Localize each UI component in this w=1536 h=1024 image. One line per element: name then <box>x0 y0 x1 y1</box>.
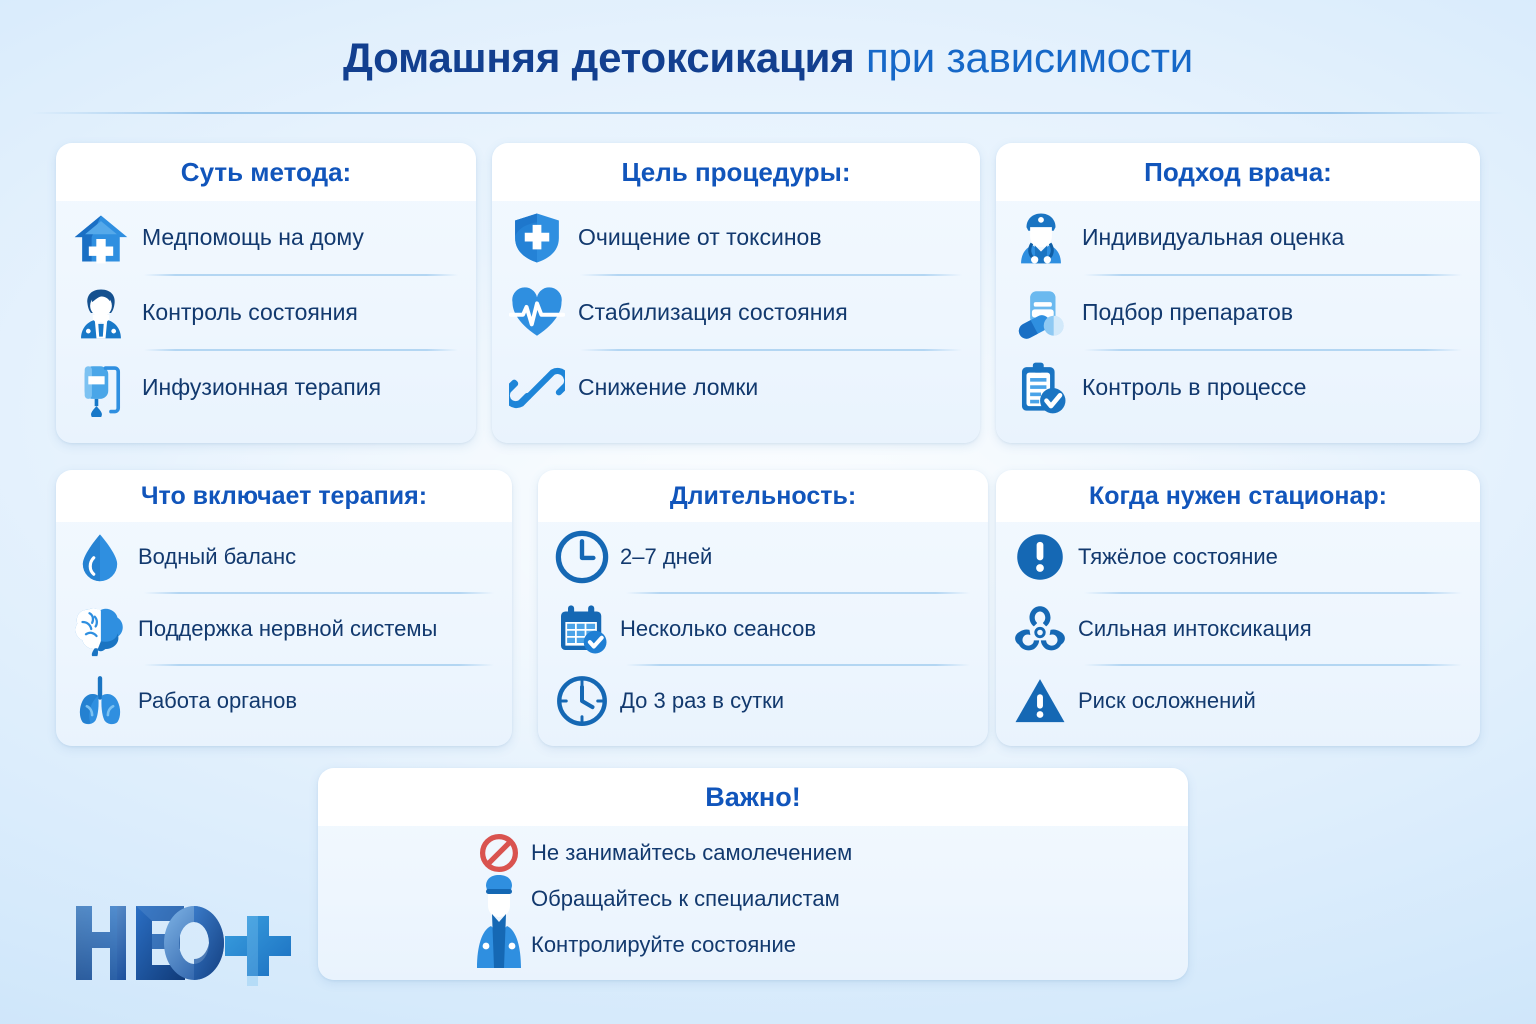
calendar-check-icon <box>552 599 612 659</box>
list-item-label: Риск осложнений <box>1078 688 1256 714</box>
doctor-person-icon <box>70 282 132 344</box>
list-item: Очищение от токсинов <box>506 201 966 274</box>
list-item-label: Контроль в процессе <box>1082 374 1306 401</box>
list-item-label: До 3 раз в сутки <box>620 688 784 714</box>
list-item-label: Водный баланс <box>138 544 296 570</box>
list-item: Водный баланс <box>70 522 498 592</box>
card-heading: Суть метода: <box>56 143 476 201</box>
list-item-label: Несколько сеансов <box>620 616 816 642</box>
card-heading: Длительность: <box>538 470 988 522</box>
list-item-label: 2–7 дней <box>620 544 712 570</box>
water-drop-icon <box>70 527 130 587</box>
heart-pulse-icon <box>506 282 568 344</box>
list-item-label: Не занимайтесь самолечением <box>531 840 852 866</box>
important-list: Не занимайтесь самолечением Обращайтесь … <box>473 830 1033 968</box>
clock-icon <box>552 527 612 587</box>
list-item-label: Подбор препаратов <box>1082 299 1293 326</box>
card-therapy-includes: Что включает терапия: Водный баланс <box>56 470 512 746</box>
list-item: До 3 раз в сутки <box>552 666 974 736</box>
list-item-label: Обращайтесь к специалистам <box>531 886 840 912</box>
neo-plus-logo <box>72 900 292 986</box>
list-item-label: Сильная интоксикация <box>1078 616 1312 642</box>
list-item-label: Контроль состояния <box>142 299 358 326</box>
list-item: Контроль в процессе <box>1010 351 1466 424</box>
card-heading: Что включает терапия: <box>56 470 512 522</box>
list-item: Снижение ломки <box>506 351 966 424</box>
lungs-icon <box>70 671 130 731</box>
biohazard-icon <box>1010 599 1070 659</box>
clipboard-check-icon <box>1010 357 1072 419</box>
list-item: Риск осложнений <box>1010 666 1466 736</box>
warning-triangle-icon <box>1010 671 1070 731</box>
list-item: Обращайтесь к специалистам <box>473 876 1033 922</box>
card-heading: Подход врача: <box>996 143 1480 201</box>
list-item-label: Стабилизация состояния <box>578 299 848 326</box>
card-body: Медпомощь на дому Контроль состояния <box>56 201 476 424</box>
card-heading: Цель процедуры: <box>492 143 980 201</box>
list-item: Тяжёлое состояние <box>1010 522 1466 592</box>
exclamation-circle-icon <box>1010 527 1070 587</box>
clock-ticks-icon <box>552 671 612 731</box>
list-item: Индивидуальная оценка <box>1010 201 1466 274</box>
list-item: Сильная интоксикация <box>1010 594 1466 664</box>
card-body: Тяжёлое состояние Сильная инто <box>996 522 1480 736</box>
list-item-label: Поддержка нервной системы <box>138 616 437 642</box>
list-item: Не занимайтесь самолечением <box>473 830 1033 876</box>
brain-icon <box>70 599 130 659</box>
list-item-label: Снижение ломки <box>578 374 758 401</box>
card-body: 2–7 дней <box>538 522 988 736</box>
card-method-essence: Суть метода: Медпомощь на дому <box>56 143 476 443</box>
list-item: Подбор препаратов <box>1010 276 1466 349</box>
page-title: Домашняя детоксикация при зависимости <box>0 34 1536 81</box>
list-item-label: Индивидуальная оценка <box>1082 224 1344 251</box>
iv-drip-icon <box>70 357 132 419</box>
list-item-label: Работа органов <box>138 688 297 714</box>
list-item: Инфузионная терапия <box>70 351 462 424</box>
card-heading: Когда нужен стационар: <box>996 470 1480 522</box>
chain-link-icon <box>506 357 568 419</box>
title-divider <box>30 112 1506 114</box>
card-body: Водный баланс Поддержка нерв <box>56 522 512 736</box>
card-body: Не занимайтесь самолечением Обращайтесь … <box>318 826 1188 968</box>
list-item: Работа органов <box>70 666 498 736</box>
list-item-label: Тяжёлое состояние <box>1078 544 1278 570</box>
page-title-strong: Домашняя детоксикация <box>343 34 855 81</box>
list-item: Несколько сеансов <box>552 594 974 664</box>
list-item: Контролируйте состояние <box>473 922 1033 968</box>
list-item: Медпомощь на дому <box>70 201 462 274</box>
list-item-label: Инфузионная терапия <box>142 374 381 401</box>
medic-person-icon <box>473 874 525 968</box>
card-body: Очищение от токсинов Стабилизация состоя… <box>492 201 980 424</box>
list-item-label: Очищение от токсинов <box>578 224 822 251</box>
house-medical-icon <box>70 207 132 269</box>
prohibition-icon <box>473 830 525 876</box>
page-title-light: при зависимости <box>866 34 1193 81</box>
card-important: Важно! <box>318 768 1188 980</box>
card-body: Индивидуальная оценка Подбор препаратов <box>996 201 1480 424</box>
pills-bottle-icon <box>1010 282 1072 344</box>
card-doctor-approach: Подход врача: Индивидуальная оценка <box>996 143 1480 443</box>
card-procedure-goal: Цель процедуры: Очищение от токсинов <box>492 143 980 443</box>
shield-cross-icon <box>506 207 568 269</box>
card-heading: Важно! <box>318 768 1188 826</box>
list-item: Контроль состояния <box>70 276 462 349</box>
list-item: Поддержка нервной системы <box>70 594 498 664</box>
card-when-hospital: Когда нужен стационар: Тяжёлое состояние <box>996 470 1480 746</box>
list-item-label: Медпомощь на дому <box>142 224 364 251</box>
list-item: Стабилизация состояния <box>506 276 966 349</box>
list-item-label: Контролируйте состояние <box>531 932 796 958</box>
card-duration: Длительность: 2–7 дней <box>538 470 988 746</box>
list-item: 2–7 дней <box>552 522 974 592</box>
doctor-stethoscope-icon <box>1010 207 1072 269</box>
